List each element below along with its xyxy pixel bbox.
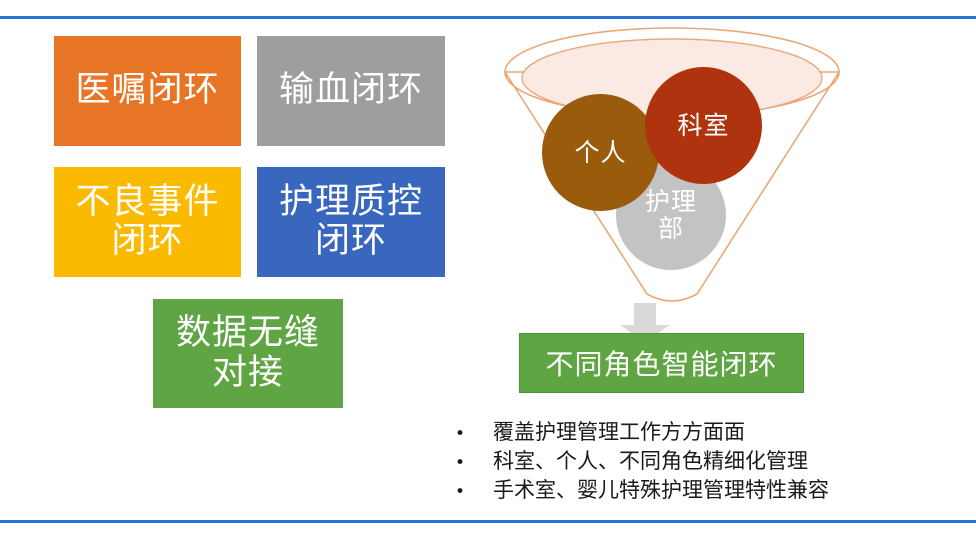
tile-label: 输血闭环	[273, 71, 429, 110]
tile-label: 不良事件 闭环	[69, 183, 225, 261]
slide-canvas: 医嘱闭环 输血闭环 不良事件 闭环 护理质控 闭环 数据无缝 对接	[0, 0, 976, 544]
result-banner-intelligent-closed-loop[interactable]: 不同角色智能闭环	[519, 333, 804, 393]
tile-label-line2: 闭环	[111, 221, 183, 261]
tile-label-line1: 护理质控	[279, 182, 423, 222]
tile-label: 数据无缝 对接	[170, 314, 326, 392]
bubble-individual[interactable]: 个人	[542, 94, 659, 211]
list-item: • 覆盖护理管理工作方方面面	[455, 418, 925, 447]
tile-seamless-data-integration[interactable]: 数据无缝 对接	[153, 299, 343, 408]
tile-label-line1: 不良事件	[75, 182, 219, 222]
tile-blood-transfusion-closed-loop[interactable]: 输血闭环	[257, 36, 445, 146]
bullet-marker-icon: •	[455, 484, 493, 501]
list-item-text: 科室、个人、不同角色精细化管理	[493, 447, 925, 476]
bullet-marker-icon: •	[455, 426, 493, 443]
list-item: • 科室、个人、不同角色精细化管理	[455, 447, 925, 476]
tile-label-line1: 数据无缝	[176, 313, 320, 353]
bottom-divider-rule	[0, 520, 976, 523]
bullet-marker-icon: •	[455, 455, 493, 472]
list-item-text: 手术室、婴儿特殊护理管理特性兼容	[493, 476, 925, 505]
tile-label-line2: 对接	[212, 353, 284, 393]
bubble-label-line1: 护理	[645, 187, 697, 216]
result-banner-label: 不同角色智能闭环	[545, 343, 777, 383]
top-divider-rule	[0, 16, 976, 19]
tile-label: 护理质控 闭环	[273, 183, 429, 261]
tile-label: 医嘱闭环	[69, 71, 225, 110]
list-item-text: 覆盖护理管理工作方方面面	[493, 418, 925, 447]
bubble-label: 科室	[677, 112, 729, 139]
bubble-label-line2: 部	[658, 214, 684, 243]
tile-adverse-event-closed-loop[interactable]: 不良事件 闭环	[54, 167, 241, 277]
tile-label-line2: 闭环	[315, 221, 387, 261]
tile-doctor-orders-closed-loop[interactable]: 医嘱闭环	[54, 36, 241, 146]
feature-bullet-list: • 覆盖护理管理工作方方面面 • 科室、个人、不同角色精细化管理 • 手术室、婴…	[455, 418, 925, 505]
list-item: • 手术室、婴儿特殊护理管理特性兼容	[455, 476, 925, 505]
bubble-department[interactable]: 科室	[645, 67, 762, 184]
bubble-label: 个人	[574, 139, 626, 166]
funnel-diagram: 个人 科室 护理 部	[497, 26, 847, 316]
tile-nursing-quality-control-closed-loop[interactable]: 护理质控 闭环	[257, 167, 445, 277]
bubble-label: 护理 部	[645, 188, 697, 242]
